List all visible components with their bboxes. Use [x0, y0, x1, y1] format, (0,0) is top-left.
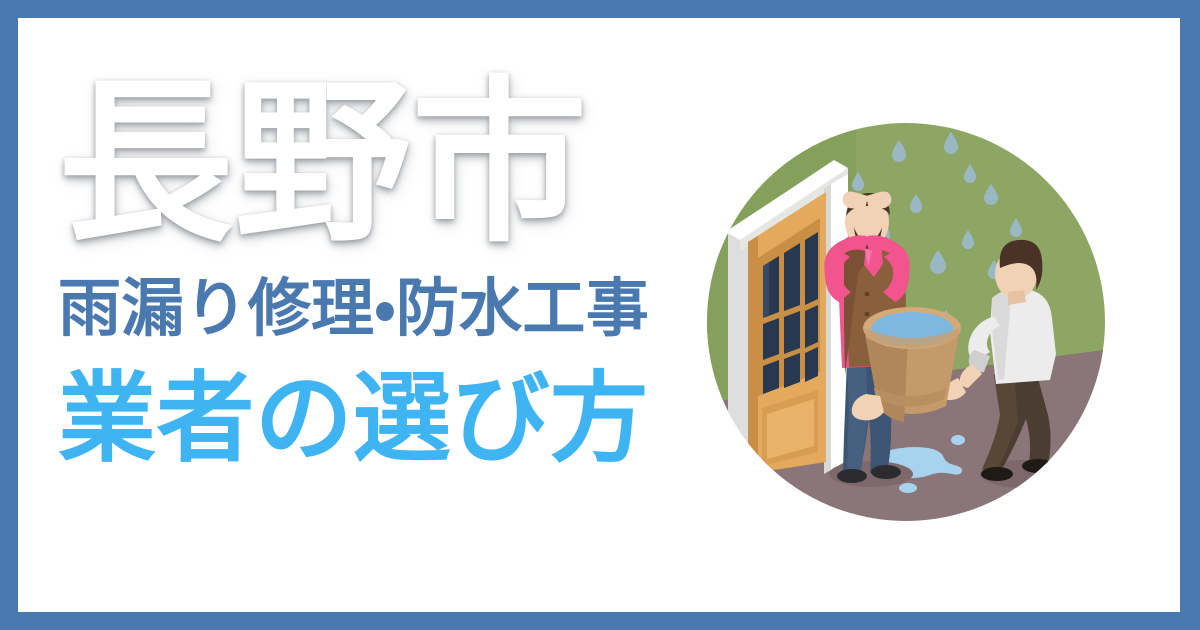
banner-root: 長野市 雨漏り修理・防水工事 業者の選び方 — [0, 0, 1200, 630]
headline-block: 長野市 雨漏り修理・防水工事 業者の選び方 — [58, 72, 738, 468]
border-bottom — [0, 612, 1200, 630]
scene-circle — [706, 122, 1106, 522]
leak-illustration — [706, 122, 1106, 522]
border-left — [0, 0, 18, 630]
door-glass-highlight — [763, 262, 769, 318]
worker-shoe-right — [1022, 459, 1054, 473]
homeowner-shoe-right — [871, 465, 901, 479]
city-name-heading: 長野市 — [58, 72, 738, 255]
border-top — [0, 0, 1200, 18]
border-right — [1180, 0, 1200, 630]
service-subtitle: 雨漏り修理・防水工事 — [58, 255, 738, 340]
cta-heading: 業者の選び方 — [58, 340, 738, 468]
worker-shoe-left — [981, 467, 1013, 481]
door-slab-edge — [748, 236, 758, 474]
homeowner-shoe-left — [837, 469, 867, 483]
door-frame-shade-left — [728, 218, 748, 478]
